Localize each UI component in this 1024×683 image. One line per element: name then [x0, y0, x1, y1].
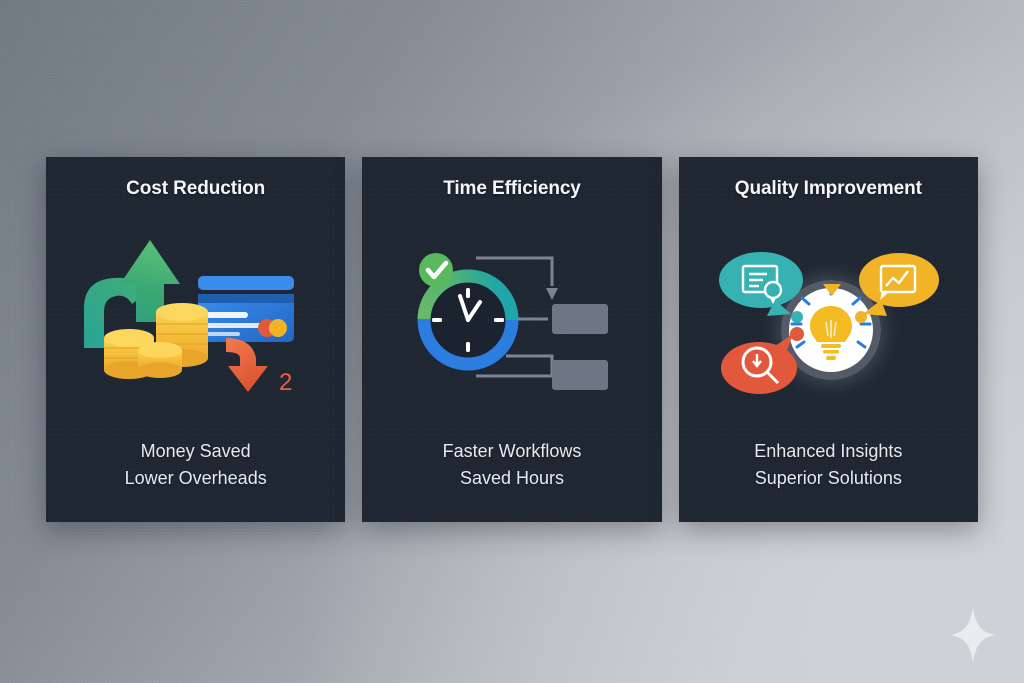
credit-card-line-2 [206, 323, 262, 328]
numeral-2-label: 2 [279, 369, 292, 396]
card-caption: Money Saved Lower Overheads [125, 438, 267, 492]
time-efficiency-svg [402, 220, 622, 400]
quality-improvement-illustration [679, 212, 978, 408]
caption-line-1: Faster Workflows [443, 438, 582, 465]
workflow-arrowhead-down [546, 288, 558, 300]
quality-improvement-svg [713, 218, 943, 403]
caption-line-1: Money Saved [125, 438, 267, 465]
coin-single [138, 342, 182, 378]
cost-savings-svg: 2 [76, 220, 316, 400]
workflow-box-lower [552, 360, 608, 390]
credit-card-back [198, 276, 294, 290]
time-efficiency-illustration [362, 212, 661, 408]
cards-row: Cost Reduction [46, 157, 978, 522]
clock-tick-6 [466, 342, 470, 352]
caption-line-2: Saved Hours [443, 465, 582, 492]
clock-tick-9 [432, 318, 442, 322]
red-down-arrow [226, 338, 268, 392]
card-chip-circle-yellow [269, 319, 287, 337]
credit-card-line-3 [206, 332, 240, 336]
card-title: Quality Improvement [735, 178, 922, 200]
workflow-box-upper [552, 304, 608, 334]
cost-savings-illustration: 2 [46, 212, 345, 408]
sparkle-star-icon [950, 608, 996, 662]
clock-tick-12 [466, 288, 470, 298]
caption-line-2: Lower Overheads [125, 465, 267, 492]
card-caption: Enhanced Insights Superior Solutions [754, 438, 902, 492]
card-title: Time Efficiency [443, 178, 581, 200]
green-check-badge [419, 253, 453, 287]
card-title: Cost Reduction [126, 178, 265, 200]
caption-line-1: Enhanced Insights [754, 438, 902, 465]
card-time-efficiency[interactable]: Time Efficiency [362, 157, 661, 522]
card-cost-reduction[interactable]: Cost Reduction [46, 157, 345, 522]
credit-card-stripe [198, 294, 294, 303]
caption-line-2: Superior Solutions [754, 465, 902, 492]
infographic-canvas: Cost Reduction [0, 0, 1024, 683]
card-quality-improvement[interactable]: Quality Improvement [679, 157, 978, 522]
card-caption: Faster Workflows Saved Hours [443, 438, 582, 492]
clock-tick-3 [494, 318, 504, 322]
credit-card-line-1 [206, 312, 248, 318]
